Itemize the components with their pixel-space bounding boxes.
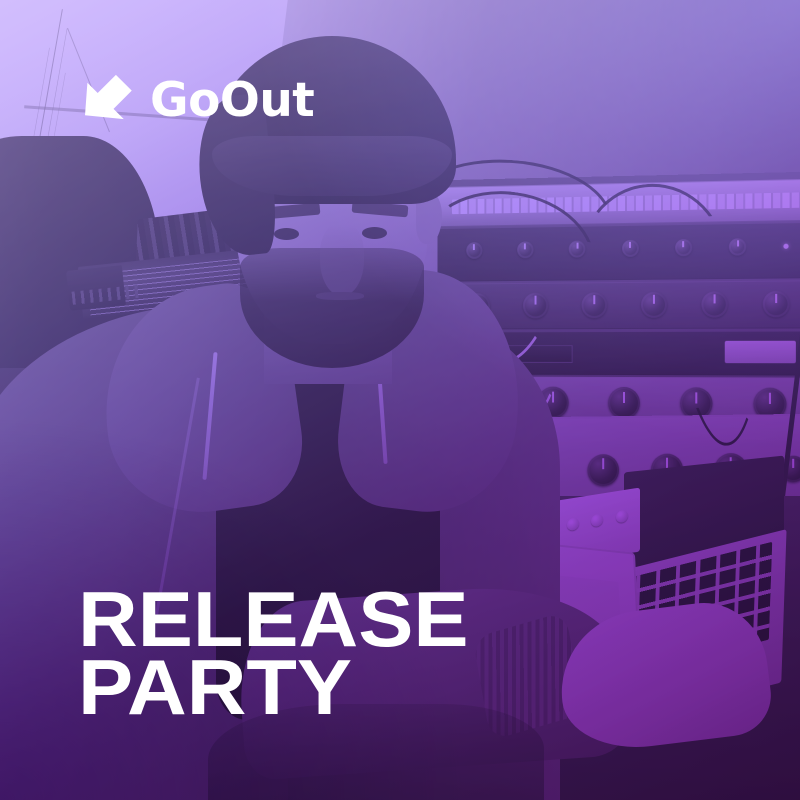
goout-logo[interactable]: GoOut <box>78 72 314 128</box>
release-party-poster: GoOut RELEASE PARTY <box>0 0 800 800</box>
headline: RELEASE PARTY <box>78 585 446 722</box>
headline-line-party: PARTY <box>78 653 469 722</box>
poster-content: GoOut RELEASE PARTY <box>0 0 800 800</box>
goout-arrow-down-left-icon <box>78 72 134 128</box>
goout-wordmark: GoOut <box>150 77 314 124</box>
